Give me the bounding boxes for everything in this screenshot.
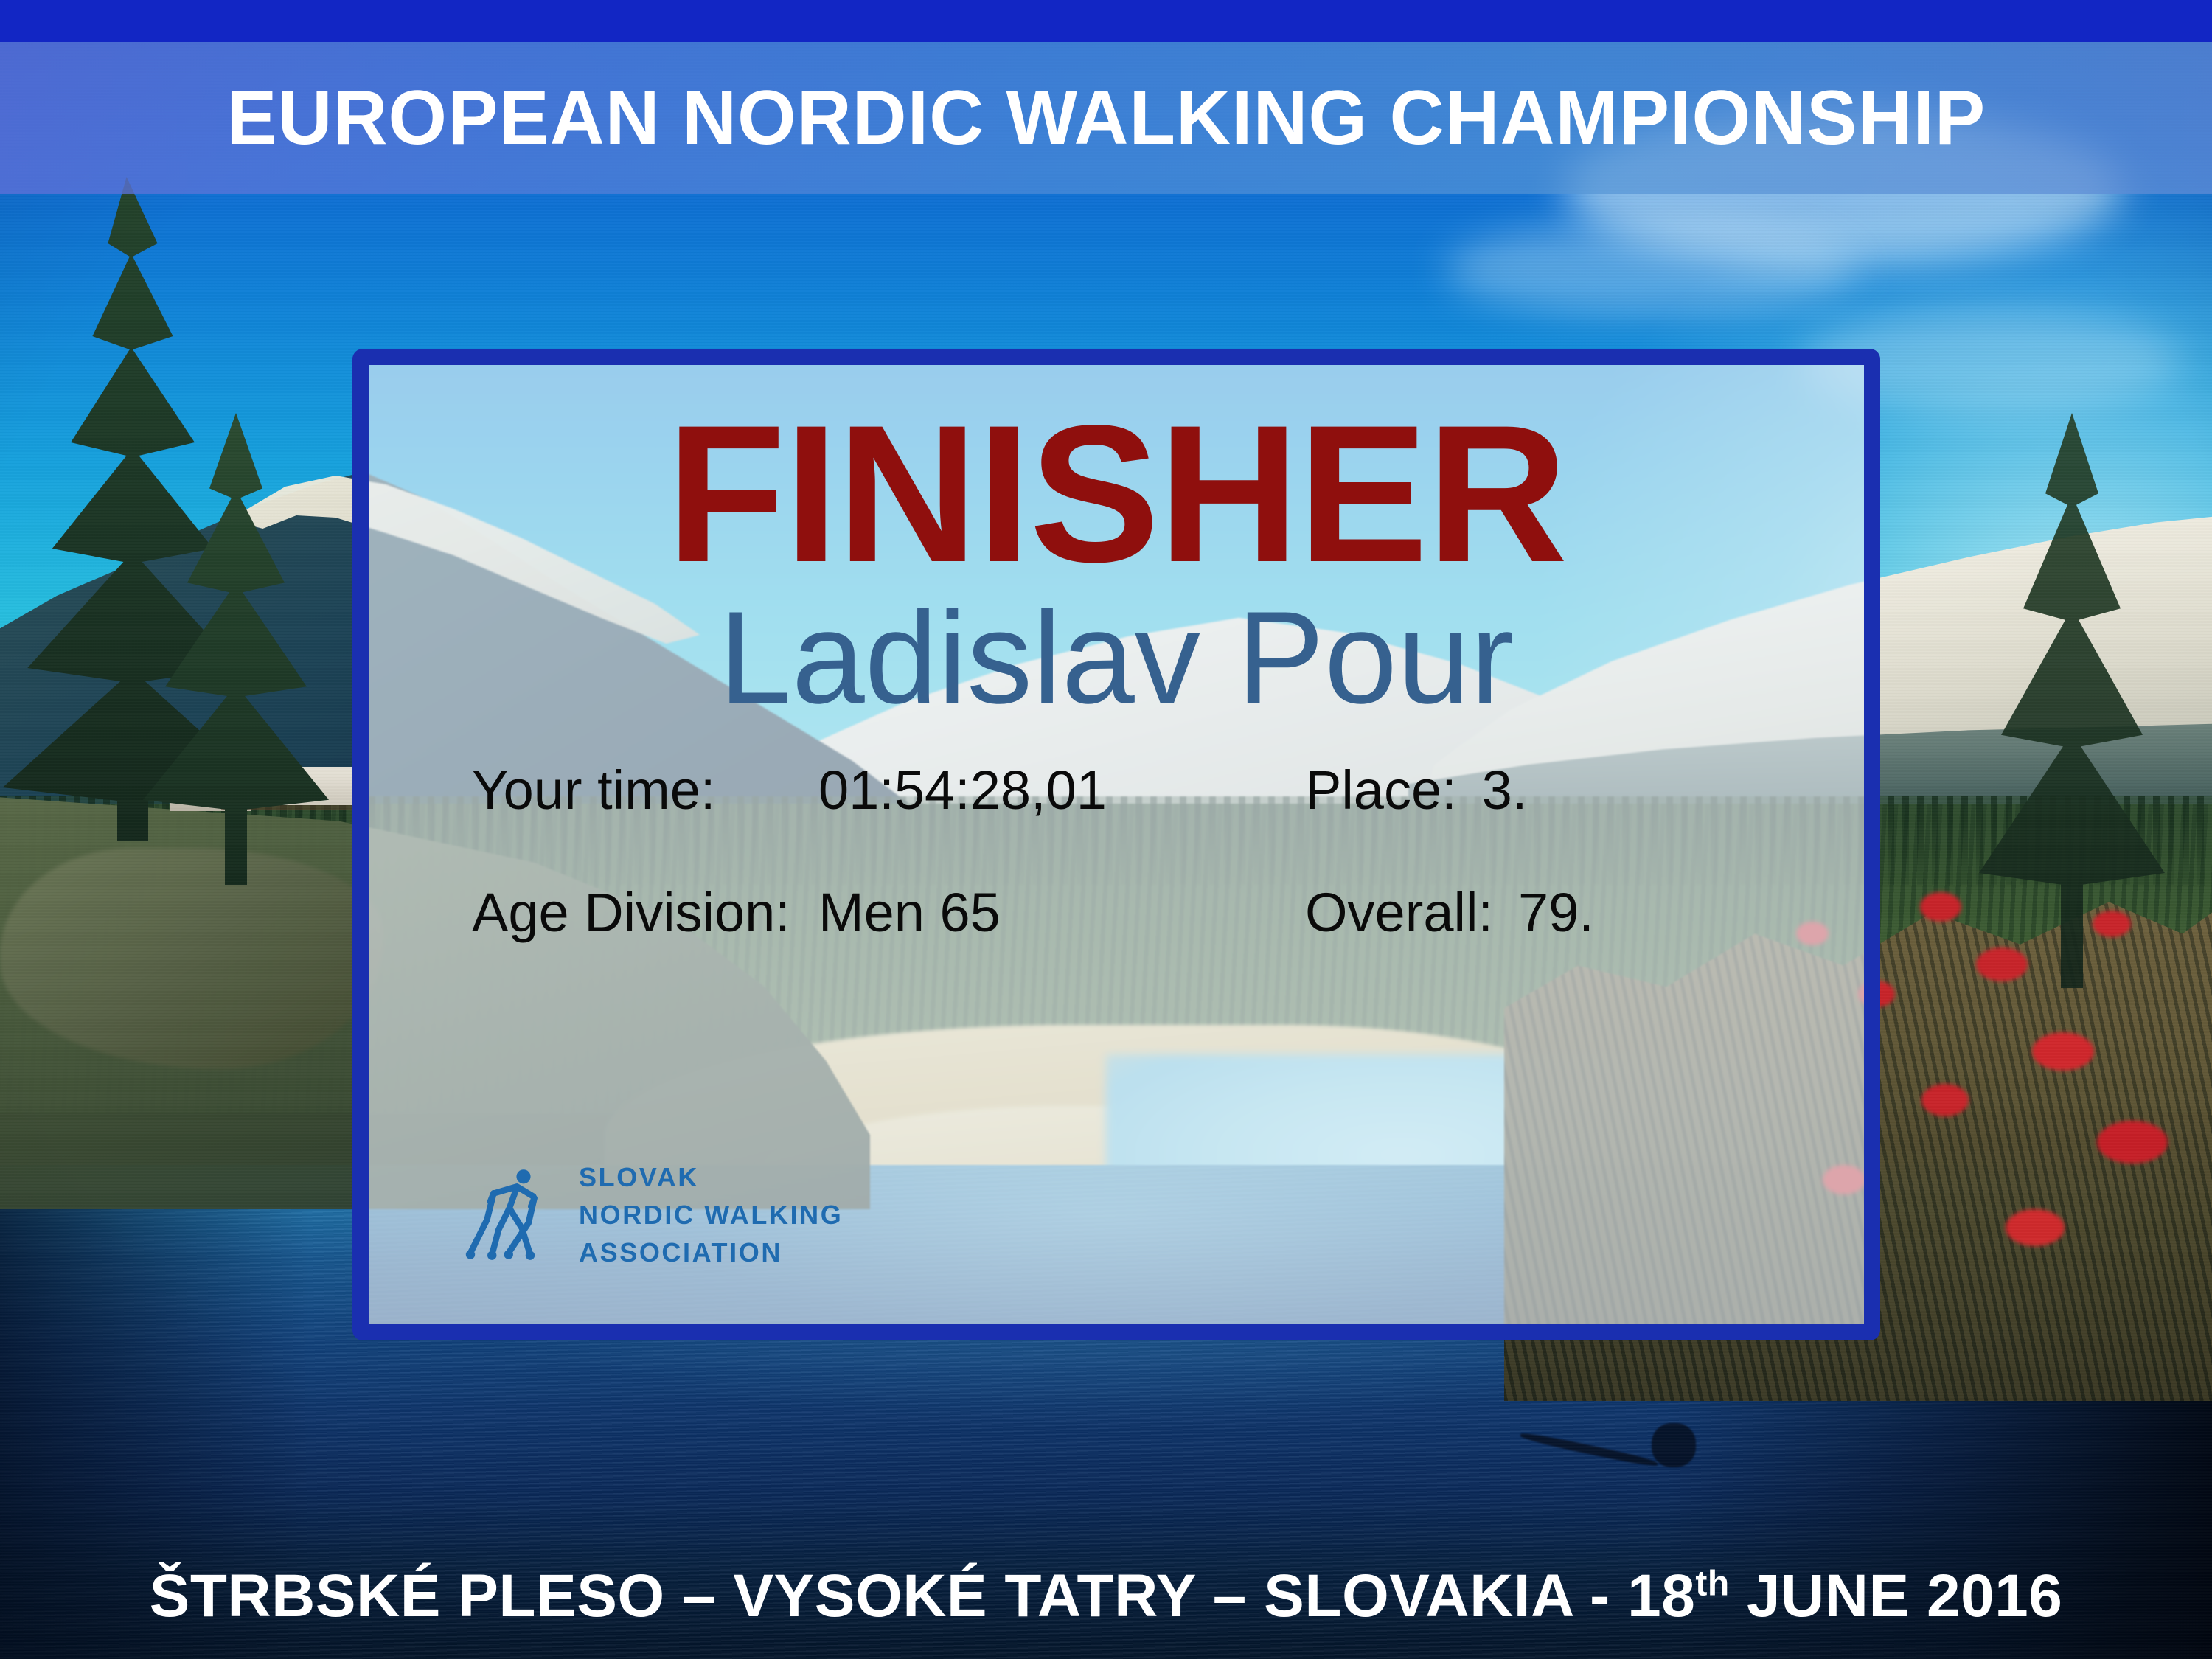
cloud [1445, 221, 1858, 317]
driftwood-twig [1652, 1423, 1696, 1467]
logo-line-1: SLOVAK [579, 1162, 699, 1192]
age-division-label: Age Division: [472, 886, 818, 940]
championship-title: EUROPEAN NORDIC WALKING CHAMPIONSHIP [226, 80, 1986, 156]
footer-date-tail: JUNE 2016 [1730, 1562, 2063, 1630]
header-banner: EUROPEAN NORDIC WALKING CHAMPIONSHIP [0, 42, 2212, 194]
age-division-value: Men 65 [818, 886, 1305, 940]
logo-line-3: ASSOCIATION [579, 1237, 782, 1267]
result-details: Your time: 01:54:28,01 Place: 3. Age Div… [420, 763, 1812, 940]
red-berry-cluster [2097, 1121, 2168, 1164]
certificate-page: EUROPEAN NORDIC WALKING CHAMPIONSHIP FIN… [0, 0, 2212, 1659]
result-row-division-overall: Age Division: Men 65 Overall: 79. [472, 886, 1812, 940]
nordic-walker-icon [457, 1165, 557, 1265]
red-berry-cluster [2006, 1209, 2065, 1246]
red-berry-cluster [2093, 911, 2131, 937]
red-berry-cluster [1976, 947, 2028, 981]
slovak-nordic-walking-association-logo: SLOVAK NORDIC WALKING ASSOCIATION [457, 1158, 843, 1271]
certificate-content: FINISHER Ladislav Pour Your time: 01:54:… [369, 365, 1864, 1324]
overall-value: 79. [1493, 886, 1594, 940]
logo-wordmark: SLOVAK NORDIC WALKING ASSOCIATION [579, 1158, 843, 1271]
place-value: 3. [1457, 763, 1528, 818]
event-location-date-footer: ŠTRBSKÉ PLESO – VYSOKÉ TATRY – SLOVAKIA … [0, 1566, 2212, 1627]
result-row-time-place: Your time: 01:54:28,01 Place: 3. [472, 763, 1812, 818]
place-label: Place: [1305, 763, 1457, 818]
red-berry-cluster [1920, 892, 1961, 922]
your-time-value: 01:54:28,01 [818, 763, 1305, 818]
logo-line-2: NORDIC WALKING [579, 1200, 843, 1230]
red-berry-cluster [2032, 1032, 2094, 1071]
top-accent-strip [0, 0, 2212, 42]
red-berry-cluster [1921, 1084, 1969, 1116]
overall-label: Overall: [1305, 886, 1493, 940]
footer-location: ŠTRBSKÉ PLESO – VYSOKÉ TATRY – SLOVAKIA … [150, 1562, 1696, 1630]
athlete-name: Ladislav Pour [420, 592, 1812, 723]
finisher-heading: FINISHER [420, 400, 1812, 588]
footer-ordinal-suffix: th [1695, 1565, 1729, 1604]
finisher-certificate-card: FINISHER Ladislav Pour Your time: 01:54:… [352, 349, 1880, 1340]
your-time-label: Your time: [472, 763, 818, 818]
